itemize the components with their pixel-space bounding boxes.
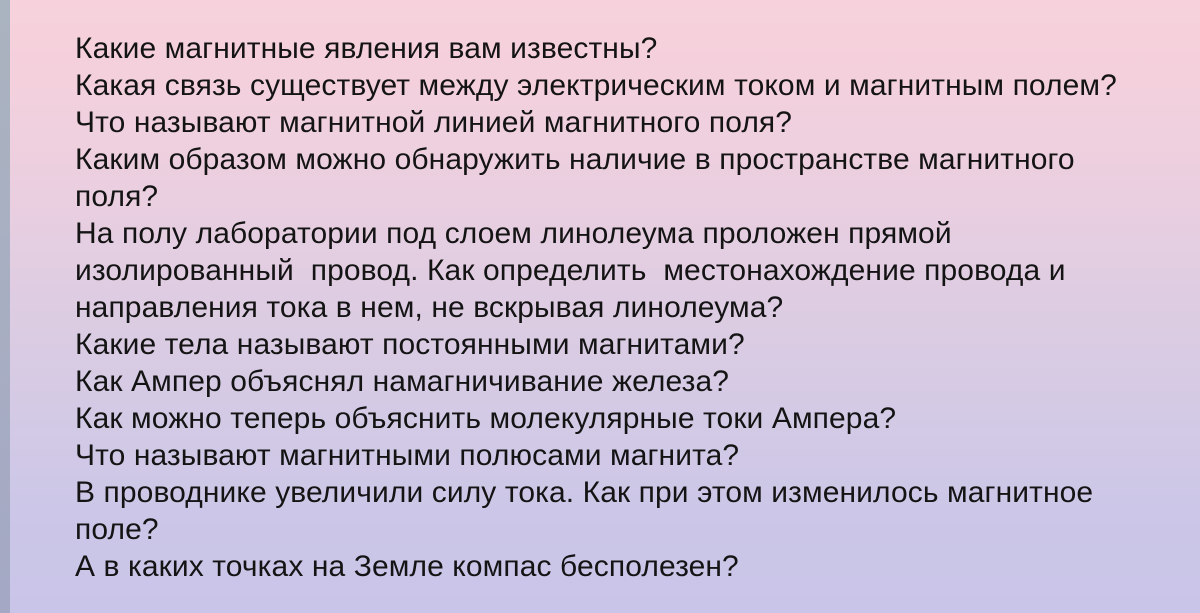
slide-canvas: Какие магнитные явления вам известны?Как…: [0, 0, 1200, 613]
question-list: Какие магнитные явления вам известны?Как…: [75, 30, 1165, 585]
question-line: А в каких точках на Земле компас бесполе…: [75, 548, 1165, 585]
question-line: На полу лаборатории под слоем линолеума …: [75, 215, 1165, 252]
question-line: Что называют магнитными полюсами магнита…: [75, 437, 1165, 474]
question-line: Как Ампер объяснял намагничивание железа…: [75, 363, 1165, 400]
question-line: Каким образом можно обнаружить наличие в…: [75, 141, 1165, 178]
question-line: В проводнике увеличили силу тока. Как пр…: [75, 474, 1165, 511]
question-continuation-line: поля?: [75, 178, 1165, 215]
question-line: Какая связь существует между электрическ…: [75, 67, 1165, 104]
question-line: Какие тела называют постоянными магнитам…: [75, 326, 1165, 363]
question-continuation-line: поле?: [75, 511, 1165, 548]
question-line: Как можно теперь объяснить молекулярные …: [75, 400, 1165, 437]
question-line: Что называют магнитной линией магнитного…: [75, 104, 1165, 141]
question-continuation-line: направления тока в нем, не вскрывая лино…: [75, 289, 1165, 326]
question-continuation-line: изолированный провод. Как определить мес…: [75, 252, 1165, 289]
question-line: Какие магнитные явления вам известны?: [75, 30, 1165, 67]
left-edge-band: [0, 0, 10, 613]
